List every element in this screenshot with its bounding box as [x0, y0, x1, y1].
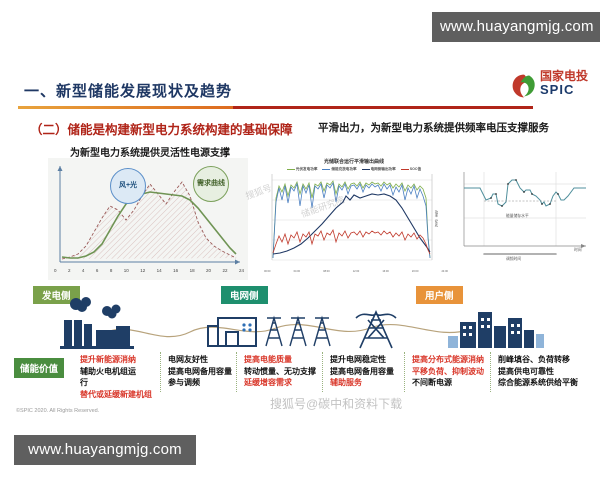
xtick: 24 — [239, 268, 244, 273]
value-line: 提升新能源消纳 — [80, 354, 152, 366]
value-line: 延缓增容需求 — [244, 377, 316, 389]
slide-canvas: www.huayangmjg.com www.huayangmjg.com 一、… — [0, 0, 600, 480]
logo-en: SPIC — [540, 83, 596, 96]
value-chain-diagram: 发电侧 电网侧 用户侧 储能价值 — [8, 286, 592, 421]
watermark-bottom: www.huayangmjg.com — [14, 435, 196, 465]
xtick: 12 — [140, 268, 145, 273]
diagram-icons — [8, 296, 592, 354]
xtick: 2 — [68, 268, 71, 273]
xtick: 0 — [54, 268, 57, 273]
value-line: 综合能源系统供给平衡 — [498, 377, 578, 389]
xtick: 18 — [190, 268, 195, 273]
diagram-icons-canvas — [8, 296, 592, 354]
xtick: 10 — [124, 268, 129, 273]
column-divider — [160, 352, 161, 392]
value-line: 提升电网稳定性 — [330, 354, 394, 366]
annotation-energy-level: 能量储存水平 — [506, 214, 529, 219]
divider-red — [233, 106, 533, 109]
spic-logo-text: 国家电投 SPIC — [540, 70, 596, 96]
charts-row: 风+光 需求曲线 0 2 4 6 8 10 12 14 16 18 20 22 … — [8, 158, 592, 283]
column-divider — [490, 352, 491, 392]
xtick: 20 — [206, 268, 211, 273]
value-line: 提高电网备用容量 — [330, 366, 394, 378]
value-line: 提高分布式能源消纳 — [412, 354, 484, 366]
value-column-user-2: 削峰填谷、负荷转移 提高供电可靠性 综合能源系统供给平衡 — [498, 354, 578, 389]
legend-item: 储能充放电功率 — [322, 167, 356, 171]
legend-label: 储能充放电功率 — [331, 167, 356, 171]
chart-pv-storage-title: 光储联合运行平滑输出曲线 — [256, 158, 452, 165]
xtick: 22 — [222, 268, 227, 273]
caption-right: 平滑出力，为新型电力系统提供频率电压支撑服务 — [318, 120, 549, 135]
legend-item: SOC值 — [401, 167, 421, 171]
value-column-grid-1: 电网友好性 提高电网备用容量 参与调频 — [168, 354, 232, 389]
value-line: 提高电网备用容量 — [168, 366, 232, 378]
xtick: 00:00 — [264, 270, 271, 273]
value-line: 电网友好性 — [168, 354, 232, 366]
chart-frequency-xlabel: 时间 — [574, 248, 582, 253]
legend-item: 电网侧输出功率 — [362, 167, 396, 171]
annotation-demand-curve: 需求曲线 — [193, 166, 229, 202]
column-divider — [236, 352, 237, 392]
value-line: 行 — [80, 377, 152, 389]
xtick: 14 — [157, 268, 162, 273]
value-line: 辅助火电机组运 — [80, 366, 152, 378]
legend-item: 光伏发电功率 — [287, 167, 318, 171]
spic-logo: 国家电投 SPIC — [510, 70, 596, 104]
city-buildings-icon — [460, 312, 534, 348]
xtick: 4 — [82, 268, 85, 273]
chart-supply-demand-xticks: 0 2 4 6 8 10 12 14 16 18 20 22 24 — [54, 268, 244, 273]
value-line: 参与调频 — [168, 377, 232, 389]
chart-pv-storage-smoothing: 光储联合运行平滑输出曲线 光伏发电功率 储能充放电功率 电网侧输出功率 SOC值 — [256, 158, 452, 280]
watermark-top: www.huayangmjg.com — [432, 12, 600, 42]
xtick: 16:00 — [382, 270, 389, 273]
xtick: 6 — [96, 268, 99, 273]
chart-pv-storage-xaxis: 00:00 04:00 08:00 12:00 16:00 20:00 24:0… — [264, 270, 448, 273]
substation-dots-icon — [242, 323, 251, 331]
xtick: 08:00 — [323, 270, 330, 273]
legend-label: SOC值 — [410, 167, 421, 171]
value-line: 提高供电可靠性 — [498, 366, 578, 378]
xtick: 04:00 — [294, 270, 301, 273]
logo-cn: 国家电投 — [540, 70, 596, 82]
slide-content: 一、新型储能发展现状及趋势 国家电投 SPIC （二）储能是构建新型电力系统构建… — [8, 58, 592, 423]
power-plant-icon — [60, 297, 134, 349]
value-line: 替代或延缓新建机组 — [80, 389, 152, 401]
column-divider — [404, 352, 405, 392]
annotation-reg-time: 调频时间 — [506, 257, 521, 262]
value-line: 不间断电源 — [412, 377, 484, 389]
chart-pv-storage-legend: 光伏发电功率 储能充放电功率 电网侧输出功率 SOC值 — [256, 167, 452, 172]
value-line: 辅助服务 — [330, 377, 394, 389]
xtick: 12:00 — [353, 270, 360, 273]
value-line: 提高电能质量 — [244, 354, 316, 366]
spic-logo-icon — [510, 72, 538, 100]
value-line: 转动惯量、无功支撑 — [244, 366, 316, 378]
value-line: 平移负荷、抑制波动 — [412, 366, 484, 378]
xtick: 24:00 — [441, 270, 448, 273]
annotation-wind-solar: 风+光 — [110, 168, 146, 204]
value-column-grid-2: 提高电能质量 转动惯量、无功支撑 延缓增容需求 — [244, 354, 316, 389]
chart-pv-storage-ylabel: 功率（MW） — [434, 210, 439, 230]
legend-label: 电网侧输出功率 — [371, 167, 396, 171]
transmission-tower-icon — [266, 318, 330, 346]
xtick: 8 — [110, 268, 113, 273]
caption-left: 为新型电力系统提供灵活性电源支撑 — [70, 144, 230, 159]
divider-orange — [18, 106, 233, 109]
value-line: 削峰填谷、负荷转移 — [498, 354, 578, 366]
page-title: 一、新型储能发展现状及趋势 — [24, 80, 232, 101]
xtick: 20:00 — [412, 270, 419, 273]
xtick: 16 — [173, 268, 178, 273]
legend-label: 光伏发电功率 — [296, 167, 318, 171]
chart-supply-demand: 风+光 需求曲线 0 2 4 6 8 10 12 14 16 18 20 22 … — [48, 158, 248, 280]
value-column-user-1: 提高分布式能源消纳 平移负荷、抑制波动 不间断电源 — [412, 354, 484, 389]
copyright-notice: ©SPIC 2020. All Rights Reserved. — [16, 408, 99, 414]
chart-frequency-regulation: 能量储存水平 调频时间 时间 — [460, 158, 592, 276]
badge-storage-value: 储能价值 — [14, 358, 64, 378]
value-column-generation-1: 提升新能源消纳 辅助火电机组运 行 替代或延缓新建机组 — [80, 354, 152, 400]
value-column-grid-3: 提升电网稳定性 提高电网备用容量 辅助服务 — [330, 354, 394, 389]
chart-pv-storage-canvas — [256, 158, 452, 280]
column-divider — [322, 352, 323, 392]
subsection-title: （二）储能是构建新型电力系统构建的基础保障 — [30, 119, 293, 138]
